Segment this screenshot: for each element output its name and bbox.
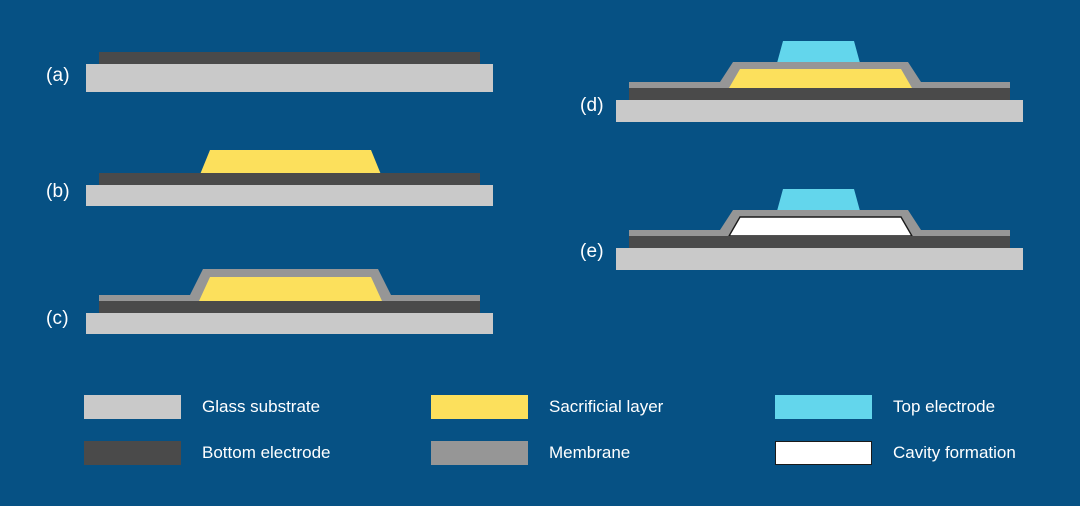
legend-swatch-top-electrode — [775, 395, 872, 419]
legend-item-top-electrode: Top electrode — [775, 394, 995, 419]
legend-item-bottom-electrode: Bottom electrode — [84, 440, 331, 465]
panel-e-label: (e) — [580, 241, 604, 263]
bottom-electrode-layer — [629, 88, 1010, 100]
legend-item-cavity-formation: Cavity formation — [775, 440, 1016, 465]
legend-column-2: Sacrificial layer Membrane — [431, 388, 761, 474]
glass-substrate-layer — [86, 64, 493, 92]
legend-swatch-cavity-formation — [775, 441, 872, 465]
top-electrode-shape — [777, 189, 860, 211]
legend-item-sacrificial-layer: Sacrificial layer — [431, 394, 663, 419]
panel-e — [610, 184, 1030, 270]
legend-column-1: Glass substrate Bottom electrode — [84, 388, 414, 474]
panel-e-diagram — [610, 184, 1030, 270]
panel-d — [610, 36, 1030, 122]
legend-item-glass-substrate: Glass substrate — [84, 394, 320, 419]
sacrificial-layer-shape — [729, 69, 912, 88]
sacrificial-layer-shape — [199, 277, 382, 301]
legend-column-3: Top electrode Cavity formation — [775, 388, 1080, 474]
legend-label-cavity-formation: Cavity formation — [893, 443, 1016, 463]
legend-item-membrane: Membrane — [431, 440, 630, 465]
panel-a-label: (a) — [46, 65, 70, 87]
legend-label-top-electrode: Top electrode — [893, 397, 995, 417]
panel-c-label: (c) — [46, 308, 69, 330]
panel-d-label: (d) — [580, 95, 604, 117]
bottom-electrode-layer — [99, 301, 480, 313]
figure-canvas: (a) (b) (c) (d) — [0, 0, 1080, 506]
legend-swatch-sacrificial-layer — [431, 395, 528, 419]
legend-swatch-membrane — [431, 441, 528, 465]
panel-d-diagram — [610, 36, 1030, 122]
bottom-electrode-layer — [99, 173, 480, 185]
legend-label-bottom-electrode: Bottom electrode — [202, 443, 331, 463]
bottom-electrode-layer — [99, 52, 480, 64]
legend-label-glass-substrate: Glass substrate — [202, 397, 320, 417]
legend-swatch-glass-substrate — [84, 395, 181, 419]
panel-b-diagram — [80, 140, 500, 206]
panel-a-diagram — [80, 44, 500, 96]
legend-label-membrane: Membrane — [549, 443, 630, 463]
sacrificial-layer-shape — [199, 150, 382, 177]
top-electrode-shape — [777, 41, 860, 63]
glass-substrate-layer — [86, 185, 493, 206]
legend-label-sacrificial-layer: Sacrificial layer — [549, 397, 663, 417]
panel-c — [80, 262, 500, 334]
glass-substrate-layer — [86, 313, 493, 334]
bottom-electrode-layer — [629, 236, 1010, 248]
glass-substrate-layer — [616, 248, 1023, 270]
panel-b-label: (b) — [46, 181, 70, 203]
panel-a — [80, 44, 500, 96]
panel-c-diagram — [80, 262, 500, 334]
legend-swatch-bottom-electrode — [84, 441, 181, 465]
panel-b — [80, 140, 500, 206]
legend: Glass substrate Bottom electrode Sacrifi… — [84, 388, 1044, 474]
cavity-shape — [729, 217, 912, 236]
glass-substrate-layer — [616, 100, 1023, 122]
